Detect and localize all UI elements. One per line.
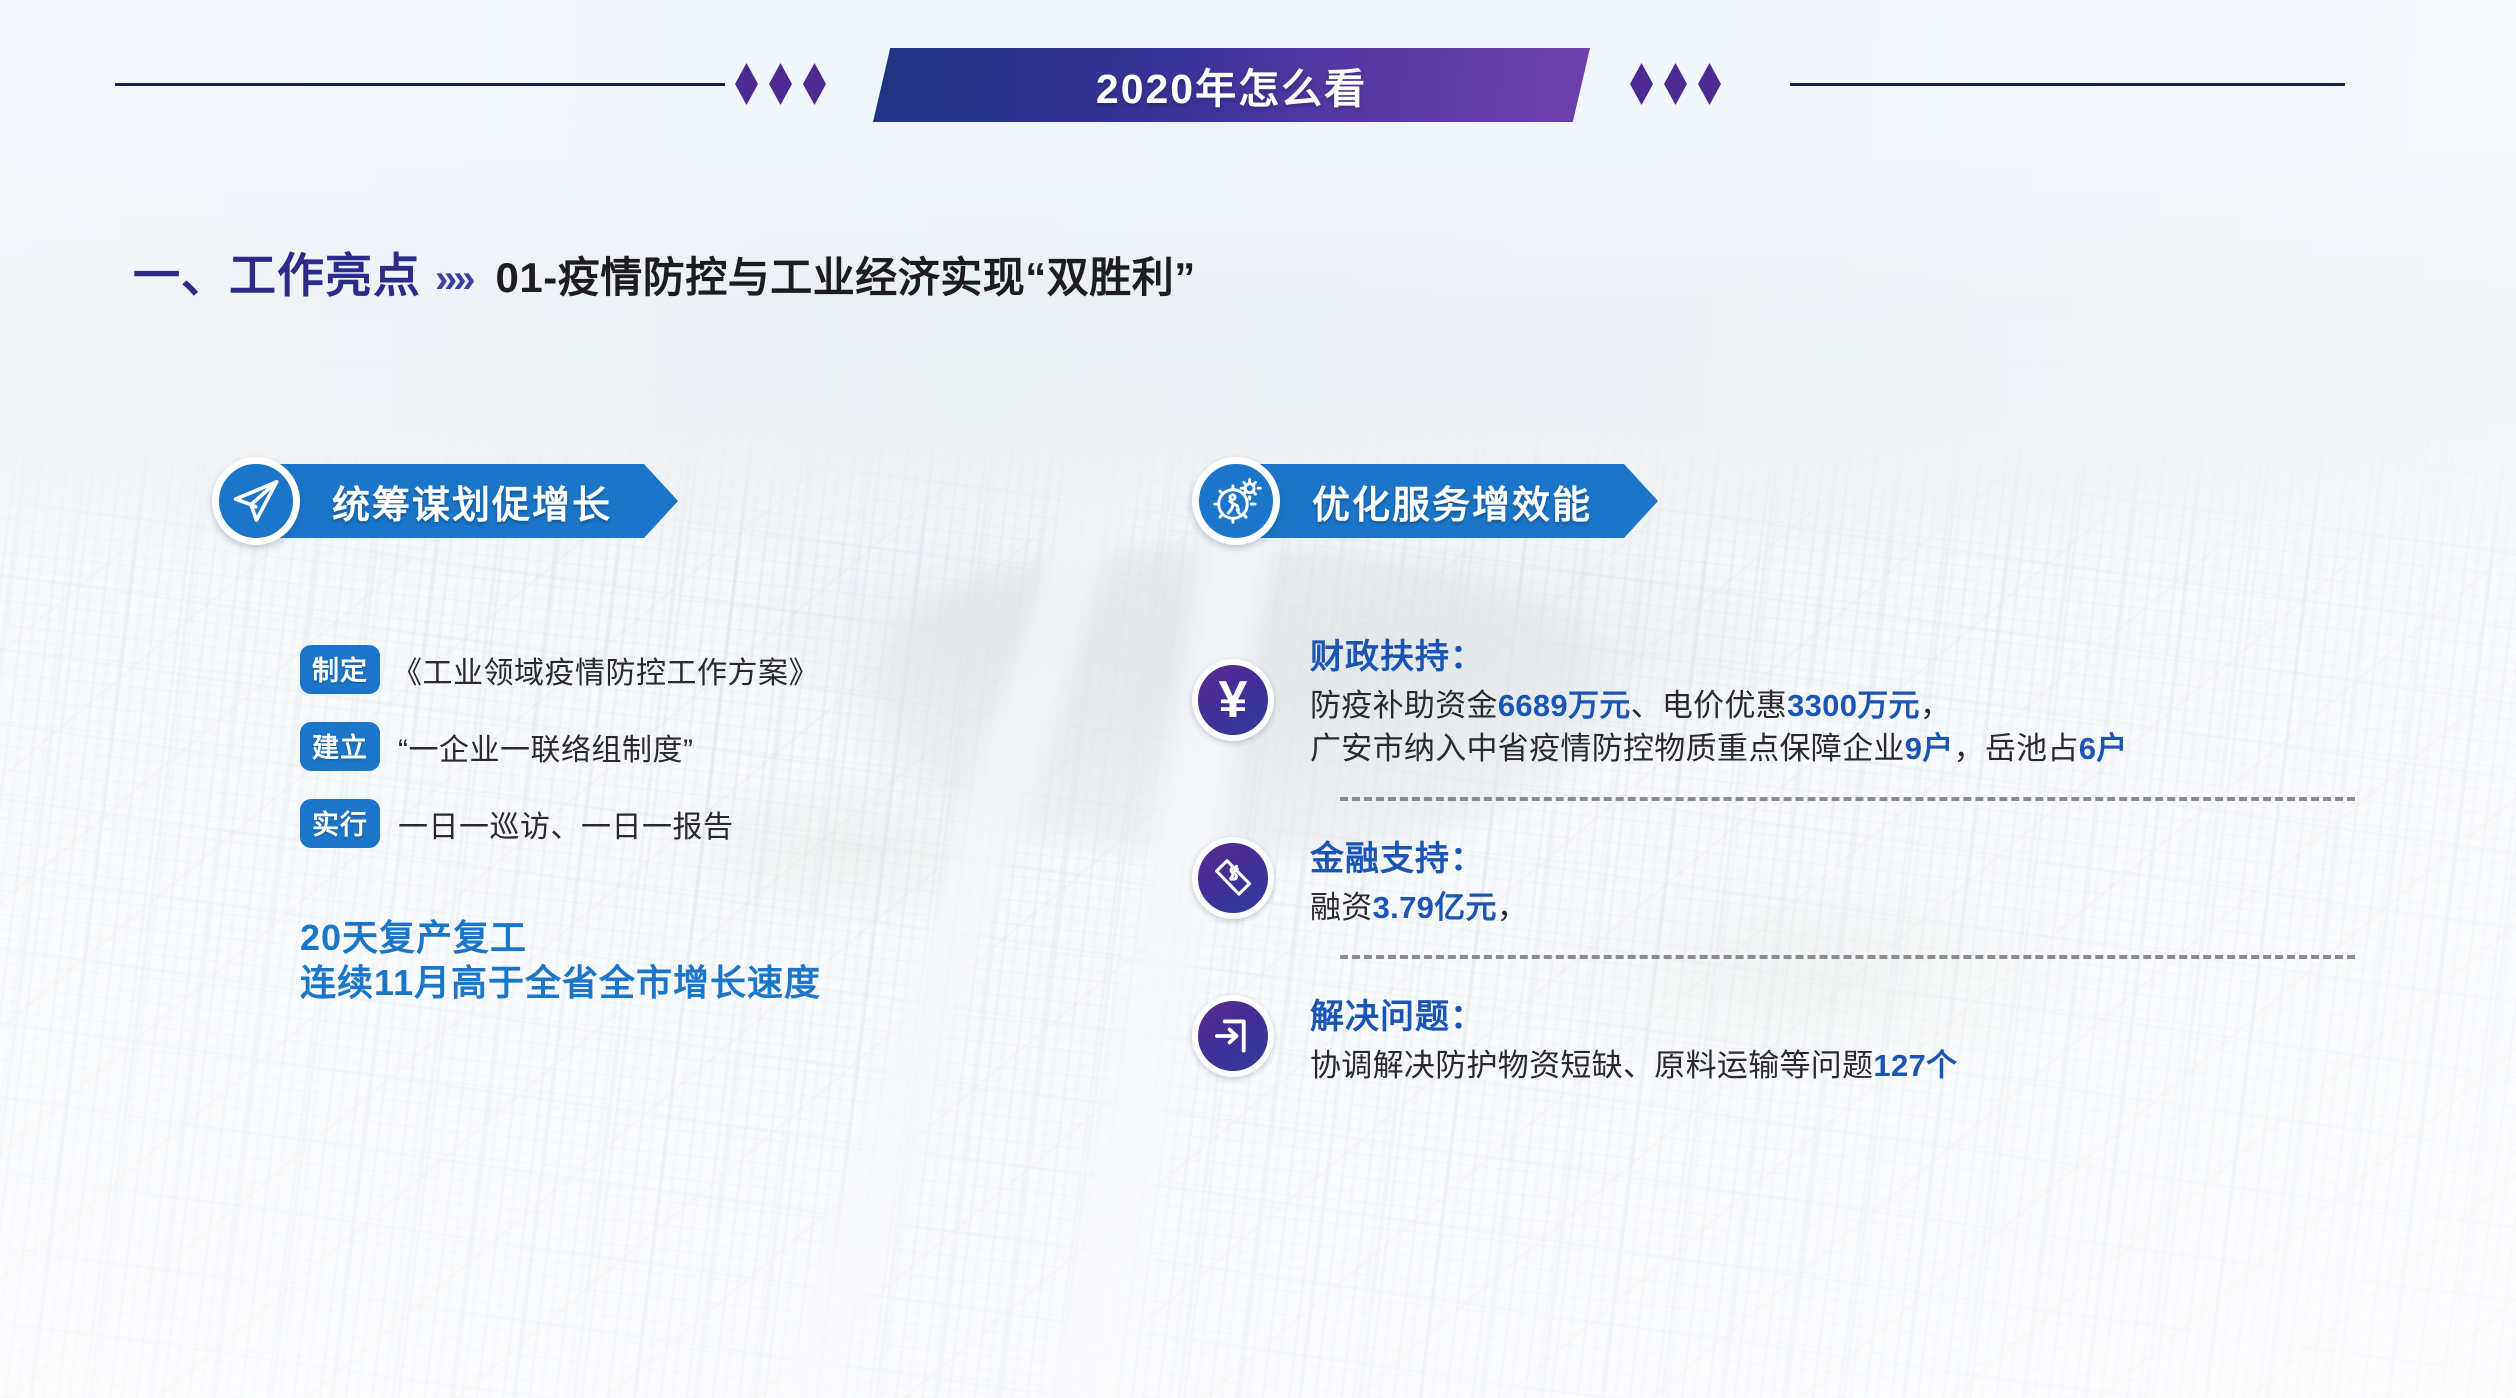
column-header-right-label: 优化服务增效能 xyxy=(1312,474,1592,529)
list-item: 制定 《工业领域疫情防控工作方案》 xyxy=(300,645,819,694)
list-item-heading: 财政扶持： xyxy=(1310,629,2128,678)
text-run: 协调解决防护物资短缺、原料运输等问题 xyxy=(1310,1048,1873,1083)
slide-header: 2020年怎么看 xyxy=(0,0,2516,150)
list-item-text: 《工业领域疫情防控工作方案》 xyxy=(392,648,819,692)
list-item-line: 融资3.79亿元， xyxy=(1310,887,1528,930)
list-item-body: 金融支持： 融资3.79亿元， xyxy=(1310,827,1528,930)
banner-title: 2020年怎么看 xyxy=(1096,55,1367,115)
list-item-body: 解决问题： 协调解决防护物资短缺、原料运输等问题127个 xyxy=(1310,985,1957,1088)
list-item-tag: 实行 xyxy=(300,799,380,848)
text-run: ， xyxy=(1920,688,1951,723)
text-run: 、电价优惠 xyxy=(1631,688,1788,723)
value-highlight: 3300万元 xyxy=(1787,688,1920,723)
sign-in-arrow-icon xyxy=(1192,995,1274,1077)
value-highlight: 127个 xyxy=(1873,1048,1957,1083)
highlight-line-1: 20天复产复工 xyxy=(300,915,821,960)
gear-runner-icon xyxy=(1192,457,1280,545)
column-header-left-bar: 统筹谋划促增长 xyxy=(270,464,678,538)
list-item-heading: 金融支持： xyxy=(1310,831,1528,880)
column-header-left-label: 统筹谋划促增长 xyxy=(332,474,612,529)
list-item-heading: 解决问题： xyxy=(1310,989,1957,1038)
diamond-row-right-icon xyxy=(1630,63,1721,105)
value-highlight: 6户 xyxy=(2079,731,2128,766)
value-highlight: 6689万元 xyxy=(1498,688,1631,723)
list-item-text: 一日一巡访、一日一报告 xyxy=(398,802,734,846)
column-header-right: 优化服务增效能 xyxy=(1192,455,1658,547)
list-item-line: 协调解决防护物资短缺、原料运输等问题127个 xyxy=(1310,1045,1957,1088)
highlight-line-2: 连续11月高于全省全市增长速度 xyxy=(300,960,821,1005)
text-run: 融资 xyxy=(1310,890,1373,925)
list-item-body: 财政扶持： 防疫补助资金6689万元、电价优惠3300万元， 广安市纳入中省疫情… xyxy=(1310,625,2128,771)
column-header-left: 统筹谋划促增长 xyxy=(212,455,678,547)
text-run: ，岳池占 xyxy=(1954,731,2079,766)
text-run: ， xyxy=(1497,890,1528,925)
diamond-icon xyxy=(803,63,826,105)
list-item-tag: 建立 xyxy=(300,722,380,771)
list-item-tag: 制定 xyxy=(300,645,380,694)
chevron-right-icon: »» xyxy=(435,257,472,302)
header-banner: 2020年怎么看 xyxy=(873,48,1590,122)
list-item: ¥ 财政扶持： 防疫补助资金6689万元、电价优惠3300万元， 广安市纳入中省… xyxy=(1192,625,2372,771)
slide-canvas: 2020年怎么看 一、工作亮点 »» 01-疫情防控与工业经济实现“双胜利” 统… xyxy=(0,0,2516,1398)
yen-glyph: ¥ xyxy=(1219,674,1248,726)
list-item-line: 广安市纳入中省疫情防控物质重点保障企业9户，岳池占6户 xyxy=(1310,728,2128,771)
value-highlight: 3.79亿元 xyxy=(1373,890,1497,925)
column-header-right-bar: 优化服务增效能 xyxy=(1250,464,1658,538)
diamond-row-left-icon xyxy=(735,63,826,105)
diamond-icon xyxy=(1630,63,1653,105)
list-item: 金融支持： 融资3.79亿元， xyxy=(1192,827,2372,930)
diamond-icon xyxy=(1698,63,1721,105)
diamond-icon xyxy=(769,63,792,105)
text-run: 防疫补助资金 xyxy=(1310,688,1498,723)
divider xyxy=(1340,797,2355,801)
list-item: 实行 一日一巡访、一日一报告 xyxy=(300,799,819,848)
left-column-highlight: 20天复产复工 连续11月高于全省全市增长速度 xyxy=(300,915,821,1005)
header-rule-right xyxy=(1790,83,2345,86)
right-column-list: ¥ 财政扶持： 防疫补助资金6689万元、电价优惠3300万元， 广安市纳入中省… xyxy=(1192,625,2372,1088)
list-item-line: 防疫补助资金6689万元、电价优惠3300万元， xyxy=(1310,685,2128,728)
page-title: 一、工作亮点 »» 01-疫情防控与工业经济实现“双胜利” xyxy=(133,237,1196,306)
list-item-text: “一企业一联络组制度” xyxy=(398,725,693,769)
banknote-dollar-icon xyxy=(1192,837,1274,919)
value-highlight: 9户 xyxy=(1905,731,1954,766)
yen-coin-icon: ¥ xyxy=(1192,659,1274,741)
section-subtitle: 01-疫情防控与工业经济实现“双胜利” xyxy=(496,244,1196,305)
left-column-list: 制定 《工业领域疫情防控工作方案》 建立 “一企业一联络组制度” 实行 一日一巡… xyxy=(300,645,819,876)
divider xyxy=(1340,955,2355,959)
text-run: 广安市纳入中省疫情防控物质重点保障企业 xyxy=(1310,731,1905,766)
diamond-icon xyxy=(735,63,758,105)
section-number-label: 一、工作亮点 xyxy=(133,237,421,306)
list-item: 解决问题： 协调解决防护物资短缺、原料运输等问题127个 xyxy=(1192,985,2372,1088)
list-item: 建立 “一企业一联络组制度” xyxy=(300,722,819,771)
diamond-icon xyxy=(1664,63,1687,105)
paper-plane-icon xyxy=(212,457,300,545)
header-rule-left xyxy=(115,83,725,86)
